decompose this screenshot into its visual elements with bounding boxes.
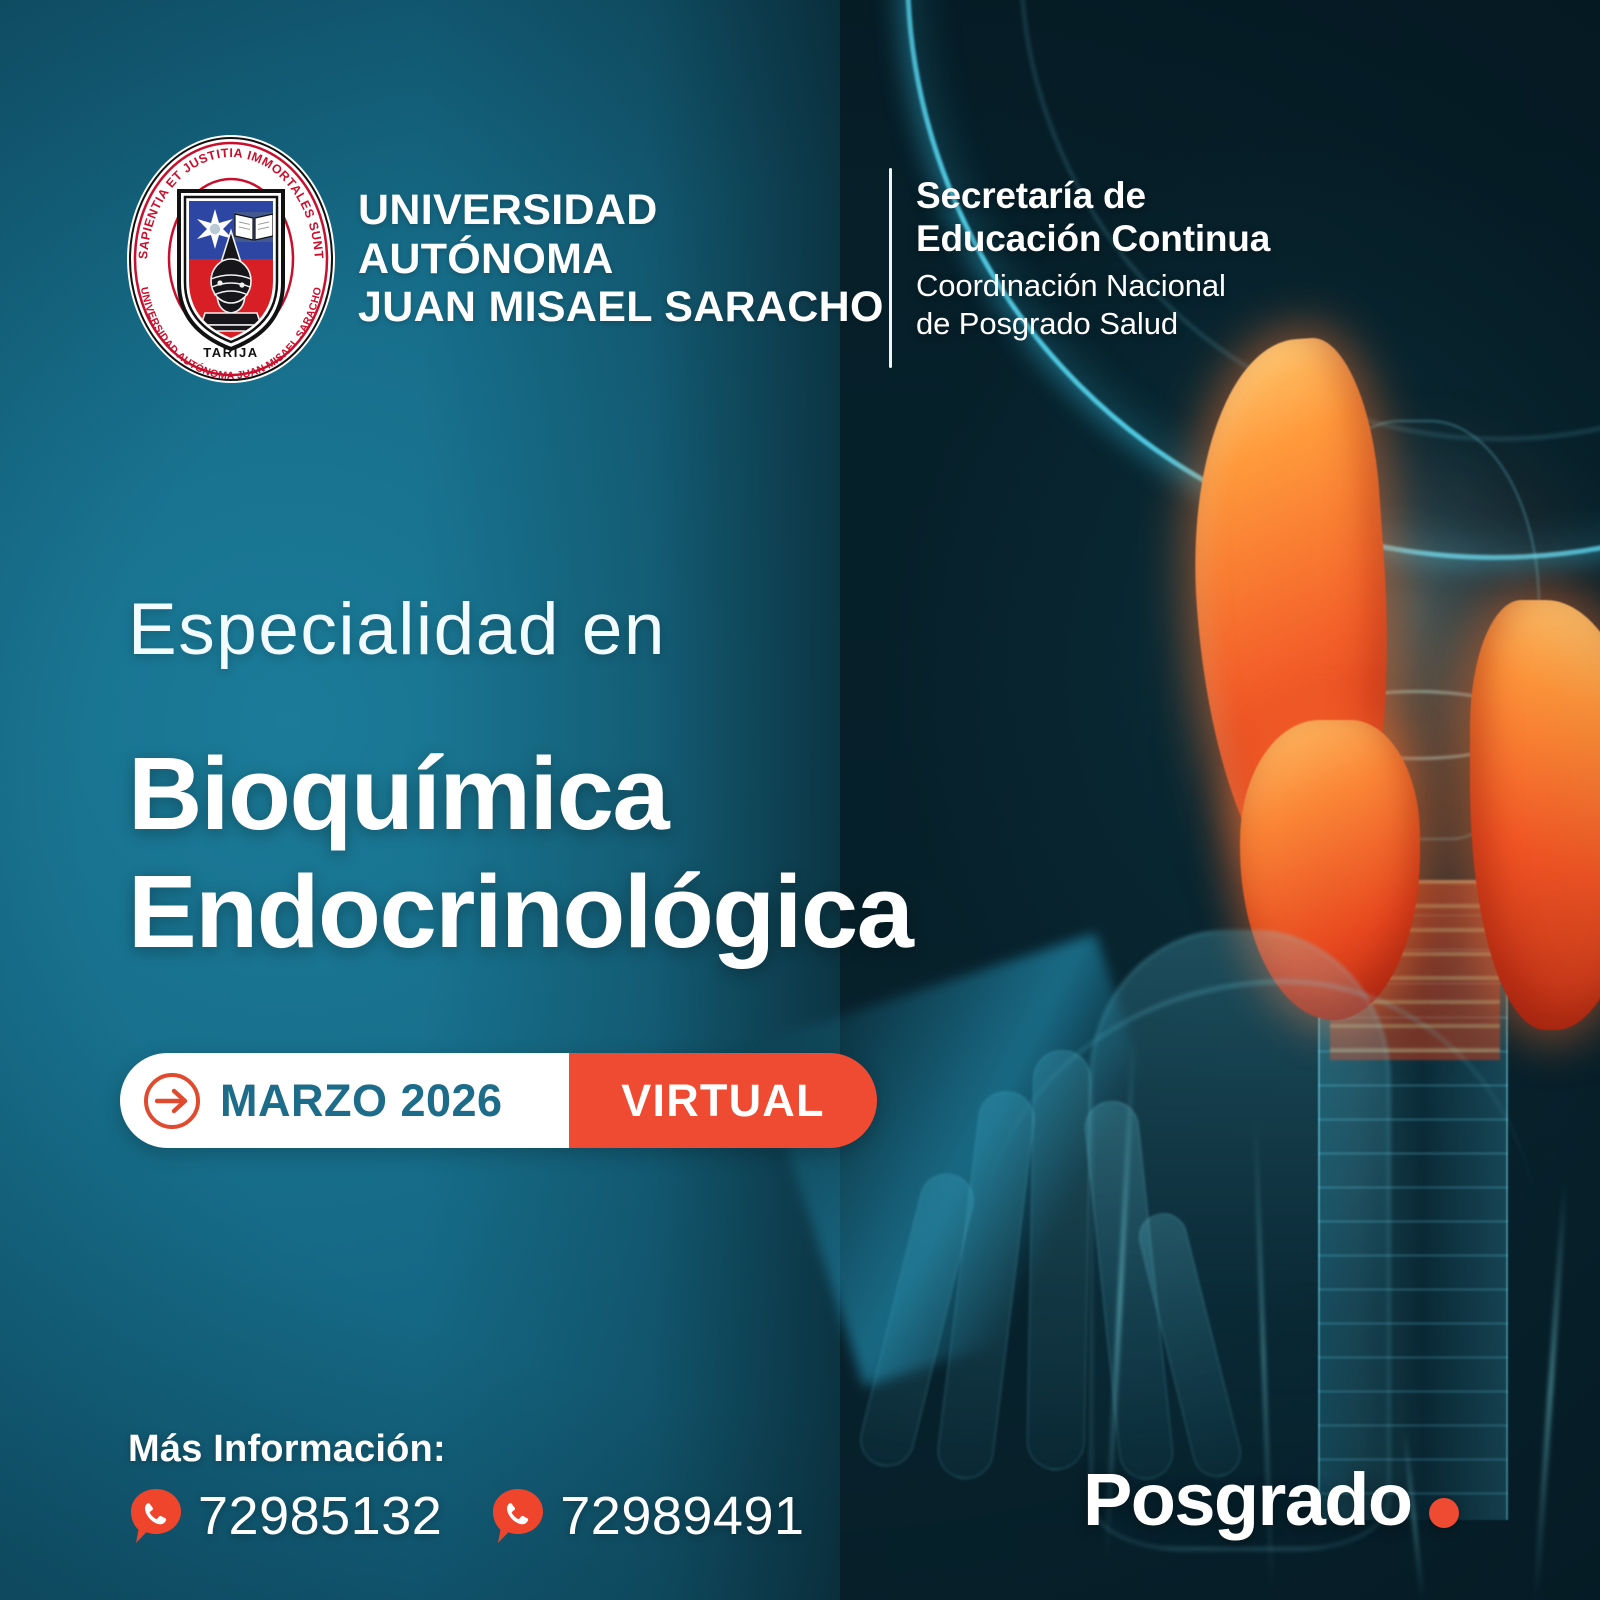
university-crest-icon: SAPIENTIA ET JUSTITIA IMMORTALES SUNT UN… <box>123 133 339 385</box>
university-name: UNIVERSIDAD AUTÓNOMA JUAN MISAEL SARACHO <box>358 186 884 332</box>
badge-modality-label: VIRTUAL <box>621 1075 824 1127</box>
date-modality-badge[interactable]: MARZO 2026 VIRTUAL <box>120 1053 877 1148</box>
svg-text:TARIJA: TARIJA <box>203 345 259 360</box>
program-title: Bioquímica Endocrinológica <box>128 735 912 972</box>
poster-canvas: SAPIENTIA ET JUSTITIA IMMORTALES SUNT UN… <box>0 0 1600 1600</box>
secretariat-title: Secretaría de Educación Continua <box>916 175 1436 261</box>
phone-list: 72985132 72989491 <box>128 1485 805 1547</box>
posgrado-wordmark: Posgrado <box>1083 1463 1411 1537</box>
header-divider <box>889 168 892 368</box>
phone-entry[interactable]: 72989491 <box>490 1485 804 1547</box>
phone-number: 72989491 <box>560 1485 804 1547</box>
circled-arrow-right-icon <box>142 1071 202 1131</box>
phone-number: 72985132 <box>198 1485 442 1547</box>
badge-date-section[interactable]: MARZO 2026 <box>120 1053 569 1148</box>
secretariat-subtitle: Coordinación Nacional de Posgrado Salud <box>916 267 1436 344</box>
badge-modality-section[interactable]: VIRTUAL <box>569 1053 877 1148</box>
posgrado-logo: Posgrado <box>1083 1463 1459 1537</box>
posgrado-dot-icon <box>1429 1498 1459 1528</box>
badge-date-label: MARZO 2026 <box>220 1075 503 1127</box>
program-kicker: Especialidad en <box>128 588 666 671</box>
phone-entry[interactable]: 72985132 <box>128 1485 442 1547</box>
contact-block: Más Información: 72985132 <box>128 1428 805 1547</box>
header: SAPIENTIA ET JUSTITIA IMMORTALES SUNT UN… <box>0 0 1600 420</box>
whatsapp-phone-icon <box>490 1487 546 1545</box>
contact-label: Más Información: <box>128 1428 805 1471</box>
whatsapp-phone-icon <box>128 1487 184 1545</box>
secretariat-block: Secretaría de Educación Continua Coordin… <box>916 175 1436 344</box>
